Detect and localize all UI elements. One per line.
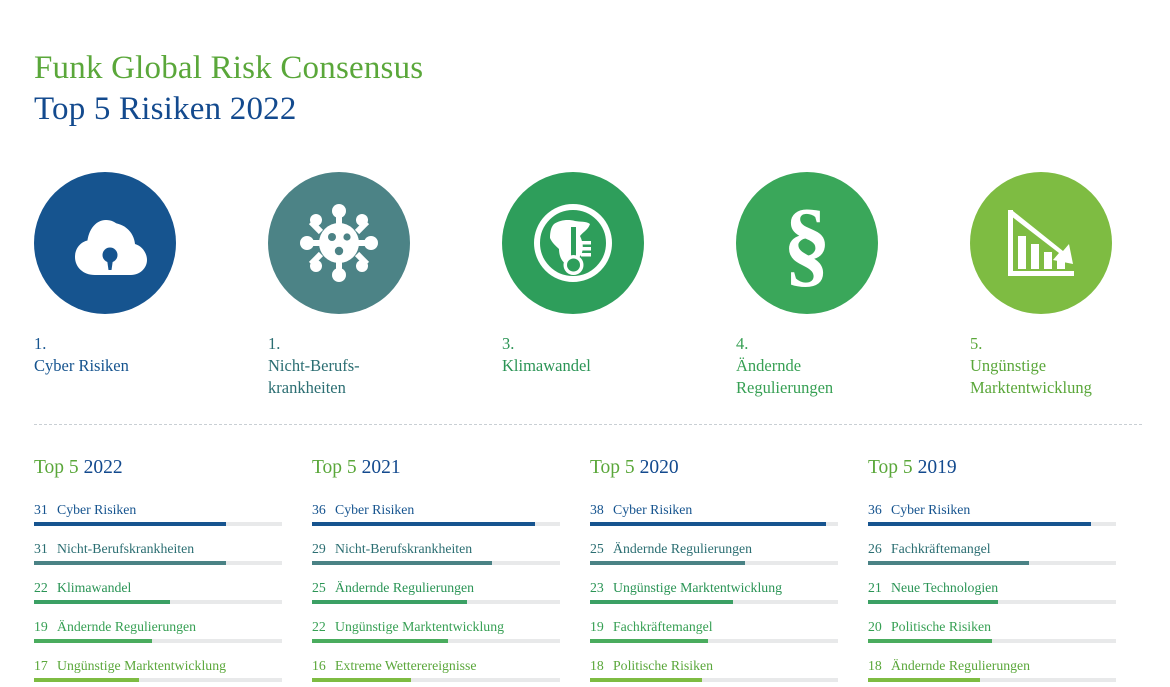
ranking-column-heading: Top 5 2020 xyxy=(590,455,838,481)
ranking-label: Ändernde Regulierungen xyxy=(891,658,1030,673)
infographic-page: Funk Global Risk Consensus Top 5 Risiken… xyxy=(0,0,1170,687)
risk-circle-1 xyxy=(34,172,176,314)
ranking-bar-fill xyxy=(868,639,992,643)
ranking-bar-track xyxy=(868,678,1116,682)
cloud-lock-icon xyxy=(61,203,149,283)
ranking-bar-track xyxy=(590,600,838,604)
risk-label-5-line2: Marktentwicklung xyxy=(970,377,1170,399)
risk-label-2-line1: Nicht-Berufs- xyxy=(268,355,502,377)
risk-caption-4: 4. Ändernde Regulierungen xyxy=(736,333,970,399)
ranking-bar-fill xyxy=(34,522,226,526)
section-divider xyxy=(34,424,1142,425)
ranking-row: 31Nicht-Berufskrankheiten xyxy=(34,540,282,565)
heading-top5-label: Top 5 xyxy=(312,457,362,478)
ranking-bar-track xyxy=(34,639,282,643)
ranking-bar-track xyxy=(312,678,560,682)
ranking-value: 25 xyxy=(312,579,331,597)
heading-year: 2019 xyxy=(918,457,957,478)
ranking-bar-track xyxy=(868,561,1116,565)
ranking-label: Ungünstige Marktentwicklung xyxy=(57,658,226,673)
ranking-label: Cyber Risiken xyxy=(57,502,136,517)
top-risks-icon-row: 1. Cyber Risiken xyxy=(34,172,1144,399)
ranking-label: Politische Risiken xyxy=(891,619,991,634)
risk-circle-5 xyxy=(970,172,1112,314)
ranking-bar-track xyxy=(868,639,1116,643)
top-risk-cell-3: 3. Klimawandel xyxy=(502,172,736,399)
ranking-label: Cyber Risiken xyxy=(335,502,414,517)
ranking-row: 18Politische Risiken xyxy=(590,657,838,682)
ranking-label: Cyber Risiken xyxy=(891,502,970,517)
risk-circle-2 xyxy=(268,172,410,314)
ranking-value: 31 xyxy=(34,540,53,558)
ranking-row: 38Cyber Risiken xyxy=(590,501,838,526)
ranking-value: 22 xyxy=(34,579,53,597)
risk-caption-5: 5. Ungünstige Marktentwicklung xyxy=(970,333,1170,399)
ranking-value: 38 xyxy=(590,501,609,519)
ranking-label: Ungünstige Marktentwicklung xyxy=(613,580,782,595)
ranking-label: Neue Technologien xyxy=(891,580,998,595)
risk-circle-3 xyxy=(502,172,644,314)
page-title-primary: Funk Global Risk Consensus xyxy=(34,48,423,89)
risk-rank-2: 1. xyxy=(268,333,502,355)
ranking-value: 23 xyxy=(590,579,609,597)
ranking-bar-fill xyxy=(868,522,1091,526)
ranking-bar-fill xyxy=(590,600,733,604)
ranking-column-2019: Top 5 2019 36Cyber Risiken 26Fachkräftem… xyxy=(868,455,1146,687)
page-header: Funk Global Risk Consensus Top 5 Risiken… xyxy=(34,48,423,130)
ranking-value: 20 xyxy=(868,618,887,636)
ranking-bar-track xyxy=(312,639,560,643)
ranking-bar-fill xyxy=(590,522,826,526)
ranking-bar-track xyxy=(590,678,838,682)
ranking-label: Ungünstige Marktentwicklung xyxy=(335,619,504,634)
ranking-row: 31Cyber Risiken xyxy=(34,501,282,526)
ranking-value: 29 xyxy=(312,540,331,558)
ranking-bar-fill xyxy=(868,561,1029,565)
virus-icon xyxy=(297,201,381,285)
ranking-label: Fachkräftemangel xyxy=(613,619,713,634)
ranking-row: 17Ungünstige Marktentwicklung xyxy=(34,657,282,682)
risk-caption-1: 1. Cyber Risiken xyxy=(34,333,268,377)
ranking-row: 25Ändernde Regulierungen xyxy=(590,540,838,565)
ranking-column-2022: Top 5 2022 31Cyber Risiken 31Nicht-Beruf… xyxy=(34,455,312,687)
ranking-row: 25Ändernde Regulierungen xyxy=(312,579,560,604)
heading-top5-label: Top 5 xyxy=(868,457,918,478)
ranking-value: 36 xyxy=(312,501,331,519)
ranking-bar-track xyxy=(34,561,282,565)
top-risk-cell-5: 5. Ungünstige Marktentwicklung xyxy=(970,172,1170,399)
risk-label-1: Cyber Risiken xyxy=(34,355,268,377)
ranking-bar-track xyxy=(34,678,282,682)
risk-caption-2: 1. Nicht-Berufs- krankheiten xyxy=(268,333,502,399)
risk-caption-3: 3. Klimawandel xyxy=(502,333,736,377)
paragraph-section-icon: § xyxy=(772,197,842,289)
ranking-label: Politische Risiken xyxy=(613,658,713,673)
ranking-row: 16Extreme Wetterereignisse xyxy=(312,657,560,682)
ranking-value: 19 xyxy=(590,618,609,636)
heading-year: 2022 xyxy=(84,457,123,478)
ranking-row: 20Politische Risiken xyxy=(868,618,1116,643)
rankings-columns: Top 5 2022 31Cyber Risiken 31Nicht-Beruf… xyxy=(34,455,1146,687)
declining-bar-chart-icon xyxy=(1000,202,1082,284)
ranking-column-2021: Top 5 2021 36Cyber Risiken 29Nicht-Beruf… xyxy=(312,455,590,687)
risk-rank-1: 1. xyxy=(34,333,268,355)
top-risk-cell-2: 1. Nicht-Berufs- krankheiten xyxy=(268,172,502,399)
ranking-row: 19Ändernde Regulierungen xyxy=(34,618,282,643)
ranking-label: Fachkräftemangel xyxy=(891,541,991,556)
risk-circle-4: § xyxy=(736,172,878,314)
heading-year: 2020 xyxy=(640,457,679,478)
ranking-bar-fill xyxy=(868,600,998,604)
risk-label-2-line2: krankheiten xyxy=(268,377,502,399)
page-title-secondary: Top 5 Risiken 2022 xyxy=(34,89,423,130)
ranking-bar-track xyxy=(34,522,282,526)
ranking-column-heading: Top 5 2022 xyxy=(34,455,282,481)
ranking-bar-track xyxy=(34,600,282,604)
ranking-value: 25 xyxy=(590,540,609,558)
risk-label-4-line2: Regulierungen xyxy=(736,377,970,399)
ranking-bar-fill xyxy=(312,561,492,565)
ranking-value: 16 xyxy=(312,657,331,675)
ranking-bar-fill xyxy=(590,561,745,565)
ranking-row: 29Nicht-Berufskrankheiten xyxy=(312,540,560,565)
ranking-bar-fill xyxy=(34,678,139,682)
ranking-row: 19Fachkräftemangel xyxy=(590,618,838,643)
ranking-column-heading: Top 5 2019 xyxy=(868,455,1116,481)
ranking-row: 23Ungünstige Marktentwicklung xyxy=(590,579,838,604)
ranking-row: 26Fachkräftemangel xyxy=(868,540,1116,565)
ranking-label: Ändernde Regulierungen xyxy=(335,580,474,595)
ranking-bar-fill xyxy=(312,522,535,526)
ranking-value: 19 xyxy=(34,618,53,636)
risk-label-5-line1: Ungünstige xyxy=(970,355,1170,377)
ranking-label: Cyber Risiken xyxy=(613,502,692,517)
ranking-label: Ändernde Regulierungen xyxy=(613,541,752,556)
ranking-label: Nicht-Berufskrankheiten xyxy=(57,541,194,556)
ranking-bar-fill xyxy=(34,561,226,565)
risk-label-4-line1: Ändernde xyxy=(736,355,970,377)
top-risk-cell-4: § 4. Ändernde Regulierungen xyxy=(736,172,970,399)
ranking-value: 21 xyxy=(868,579,887,597)
ranking-row: 36Cyber Risiken xyxy=(312,501,560,526)
ranking-label: Klimawandel xyxy=(57,580,131,595)
ranking-value: 31 xyxy=(34,501,53,519)
ranking-value: 36 xyxy=(868,501,887,519)
ranking-bar-fill xyxy=(590,678,702,682)
ranking-bar-track xyxy=(868,522,1116,526)
ranking-bar-track xyxy=(590,522,838,526)
ranking-row: 36Cyber Risiken xyxy=(868,501,1116,526)
risk-rank-3: 3. xyxy=(502,333,736,355)
heading-top5-label: Top 5 xyxy=(34,457,84,478)
ranking-row: 22Klimawandel xyxy=(34,579,282,604)
ranking-value: 22 xyxy=(312,618,331,636)
ranking-bar-fill xyxy=(590,639,708,643)
ranking-bar-fill xyxy=(34,600,170,604)
ranking-bar-track xyxy=(590,639,838,643)
ranking-value: 18 xyxy=(868,657,887,675)
ranking-bar-fill xyxy=(868,678,980,682)
ranking-label: Ändernde Regulierungen xyxy=(57,619,196,634)
risk-rank-5: 5. xyxy=(970,333,1170,355)
ranking-label: Extreme Wetterereignisse xyxy=(335,658,477,673)
ranking-bar-track xyxy=(312,561,560,565)
ranking-bar-fill xyxy=(312,678,411,682)
heading-year: 2021 xyxy=(362,457,401,478)
ranking-label: Nicht-Berufskrankheiten xyxy=(335,541,472,556)
ranking-value: 18 xyxy=(590,657,609,675)
ranking-bar-track xyxy=(590,561,838,565)
ranking-row: 18Ändernde Regulierungen xyxy=(868,657,1116,682)
ranking-value: 17 xyxy=(34,657,53,675)
ranking-row: 22Ungünstige Marktentwicklung xyxy=(312,618,560,643)
ranking-bar-fill xyxy=(34,639,152,643)
top-risk-cell-1: 1. Cyber Risiken xyxy=(34,172,268,399)
globe-thermometer-icon xyxy=(528,198,618,288)
risk-rank-4: 4. xyxy=(736,333,970,355)
ranking-bar-fill xyxy=(312,639,448,643)
svg-text:§: § xyxy=(783,197,831,289)
ranking-bar-track xyxy=(312,600,560,604)
risk-label-3: Klimawandel xyxy=(502,355,736,377)
ranking-row: 21Neue Technologien xyxy=(868,579,1116,604)
heading-top5-label: Top 5 xyxy=(590,457,640,478)
ranking-bar-fill xyxy=(312,600,467,604)
ranking-bar-track xyxy=(312,522,560,526)
ranking-value: 26 xyxy=(868,540,887,558)
ranking-bar-track xyxy=(868,600,1116,604)
ranking-column-heading: Top 5 2021 xyxy=(312,455,560,481)
ranking-column-2020: Top 5 2020 38Cyber Risiken 25Ändernde Re… xyxy=(590,455,868,687)
